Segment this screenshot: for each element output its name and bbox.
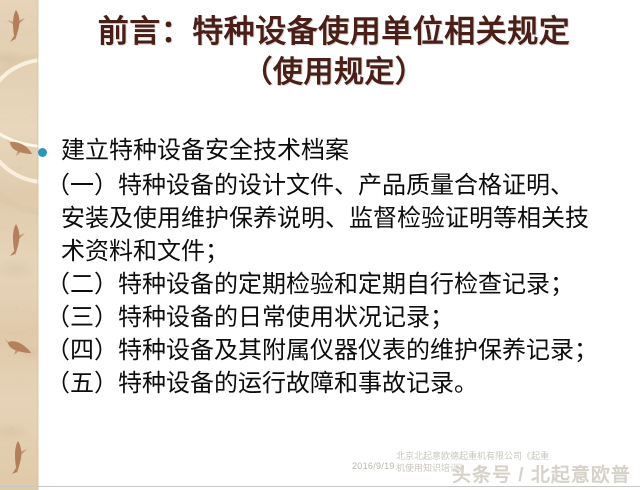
body-item-5: （五）特种设备的运行故障和事故记录。	[39, 368, 640, 401]
body-item-3: （三）特种设备的日常使用状况记录；	[39, 302, 640, 335]
bullet-list-item: 建立特种设备安全技术档案	[39, 135, 640, 168]
watermark-text: 头条号 / 北起意欧普	[452, 460, 631, 487]
decorative-left-border	[0, 0, 39, 490]
body-item-1-line-2: 安装及使用维护保养说明、监督检验证明等相关技	[39, 203, 640, 236]
bullet-dot-icon	[38, 148, 47, 157]
bullet-text: 建立特种设备安全技术档案	[61, 138, 349, 164]
slide-body: 建立特种设备安全技术档案 （一）特种设备的设计文件、产品质量合格证明、 安装及使…	[39, 135, 640, 401]
body-item-1-line-1: （一）特种设备的设计文件、产品质量合格证明、	[39, 170, 640, 203]
slide-title: 前言：特种设备使用单位相关规定 （使用规定）	[44, 12, 624, 93]
fossil-fish-icon	[5, 330, 31, 364]
footer-date: 2016/9/19	[352, 461, 395, 471]
footer-divider	[0, 486, 640, 487]
fossil-fish-icon	[4, 8, 30, 42]
fossil-fish-icon	[6, 132, 32, 166]
presentation-slide: 前言：特种设备使用单位相关规定 （使用规定） 建立特种设备安全技术档案 （一）特…	[0, 0, 640, 490]
body-item-4: （四）特种设备及其附属仪器仪表的维护保养记录；	[39, 335, 640, 368]
body-item-1-line-3: 术资料和文件；	[39, 236, 640, 269]
body-item-2: （二）特种设备的定期检验和定期自行检查记录；	[39, 269, 640, 302]
title-line-1: 前言：特种设备使用单位相关规定	[98, 14, 571, 49]
fossil-fish-icon	[3, 222, 29, 256]
title-line-2: （使用规定）	[44, 53, 624, 93]
slide-footer: 2016/9/19 北京北起意欧德起重机有限公司《起重 机使用知识培训》 头条号…	[0, 444, 640, 490]
